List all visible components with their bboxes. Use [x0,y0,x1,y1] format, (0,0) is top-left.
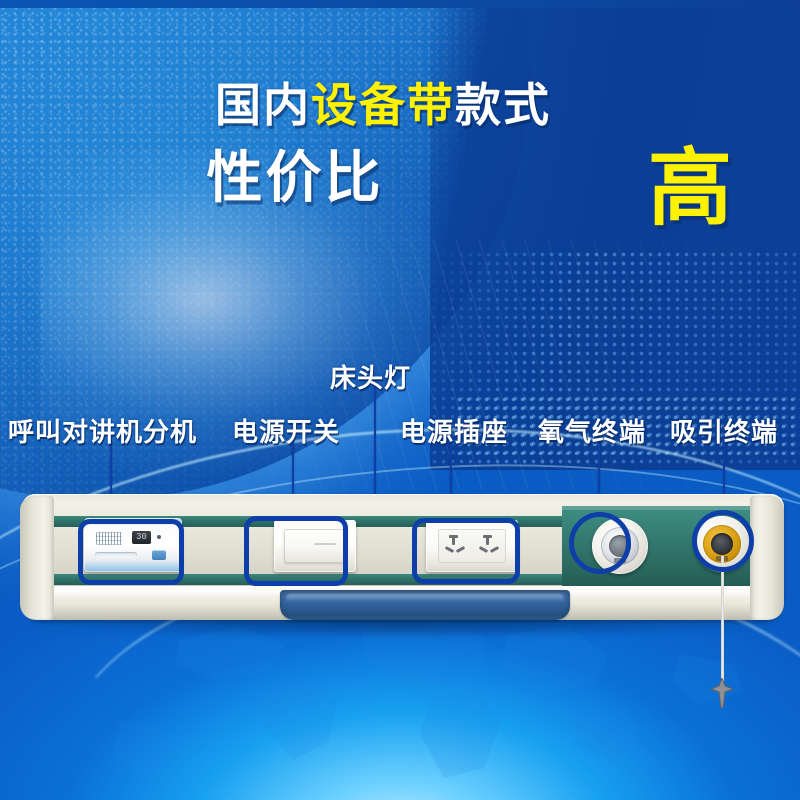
callout-label-5: 氧气终端 [538,412,646,449]
suction-pull-cord[interactable] [721,556,724,686]
background-top-edge [0,0,800,8]
callout-label-6: 吸引终端 [670,412,778,449]
callout-label-4: 电源插座 [400,412,508,449]
highlight-box-intercom [78,519,184,585]
panel-end-cap-left [20,496,54,620]
headline-emphasis: 高 [648,146,732,230]
callout-label-3: 床头灯 [330,358,411,395]
callout-label-1: 呼叫对讲机分机 [8,412,197,449]
promo-banner: 国内设备带款式 性价比 高 呼叫对讲机分机电源开关床头灯电源插座氧气终端吸引终端… [0,0,800,800]
cord-metal-connector-icon [709,678,735,708]
highlight-box-switch [244,516,348,586]
callout-label-2: 电源开关 [232,412,340,449]
highlight-ring-oxygen [569,512,631,574]
light-strip-gloss [286,594,564,602]
highlight-ring-suction [692,510,754,572]
highlight-box-socket [412,518,520,584]
panel-end-cap-right [750,496,784,620]
